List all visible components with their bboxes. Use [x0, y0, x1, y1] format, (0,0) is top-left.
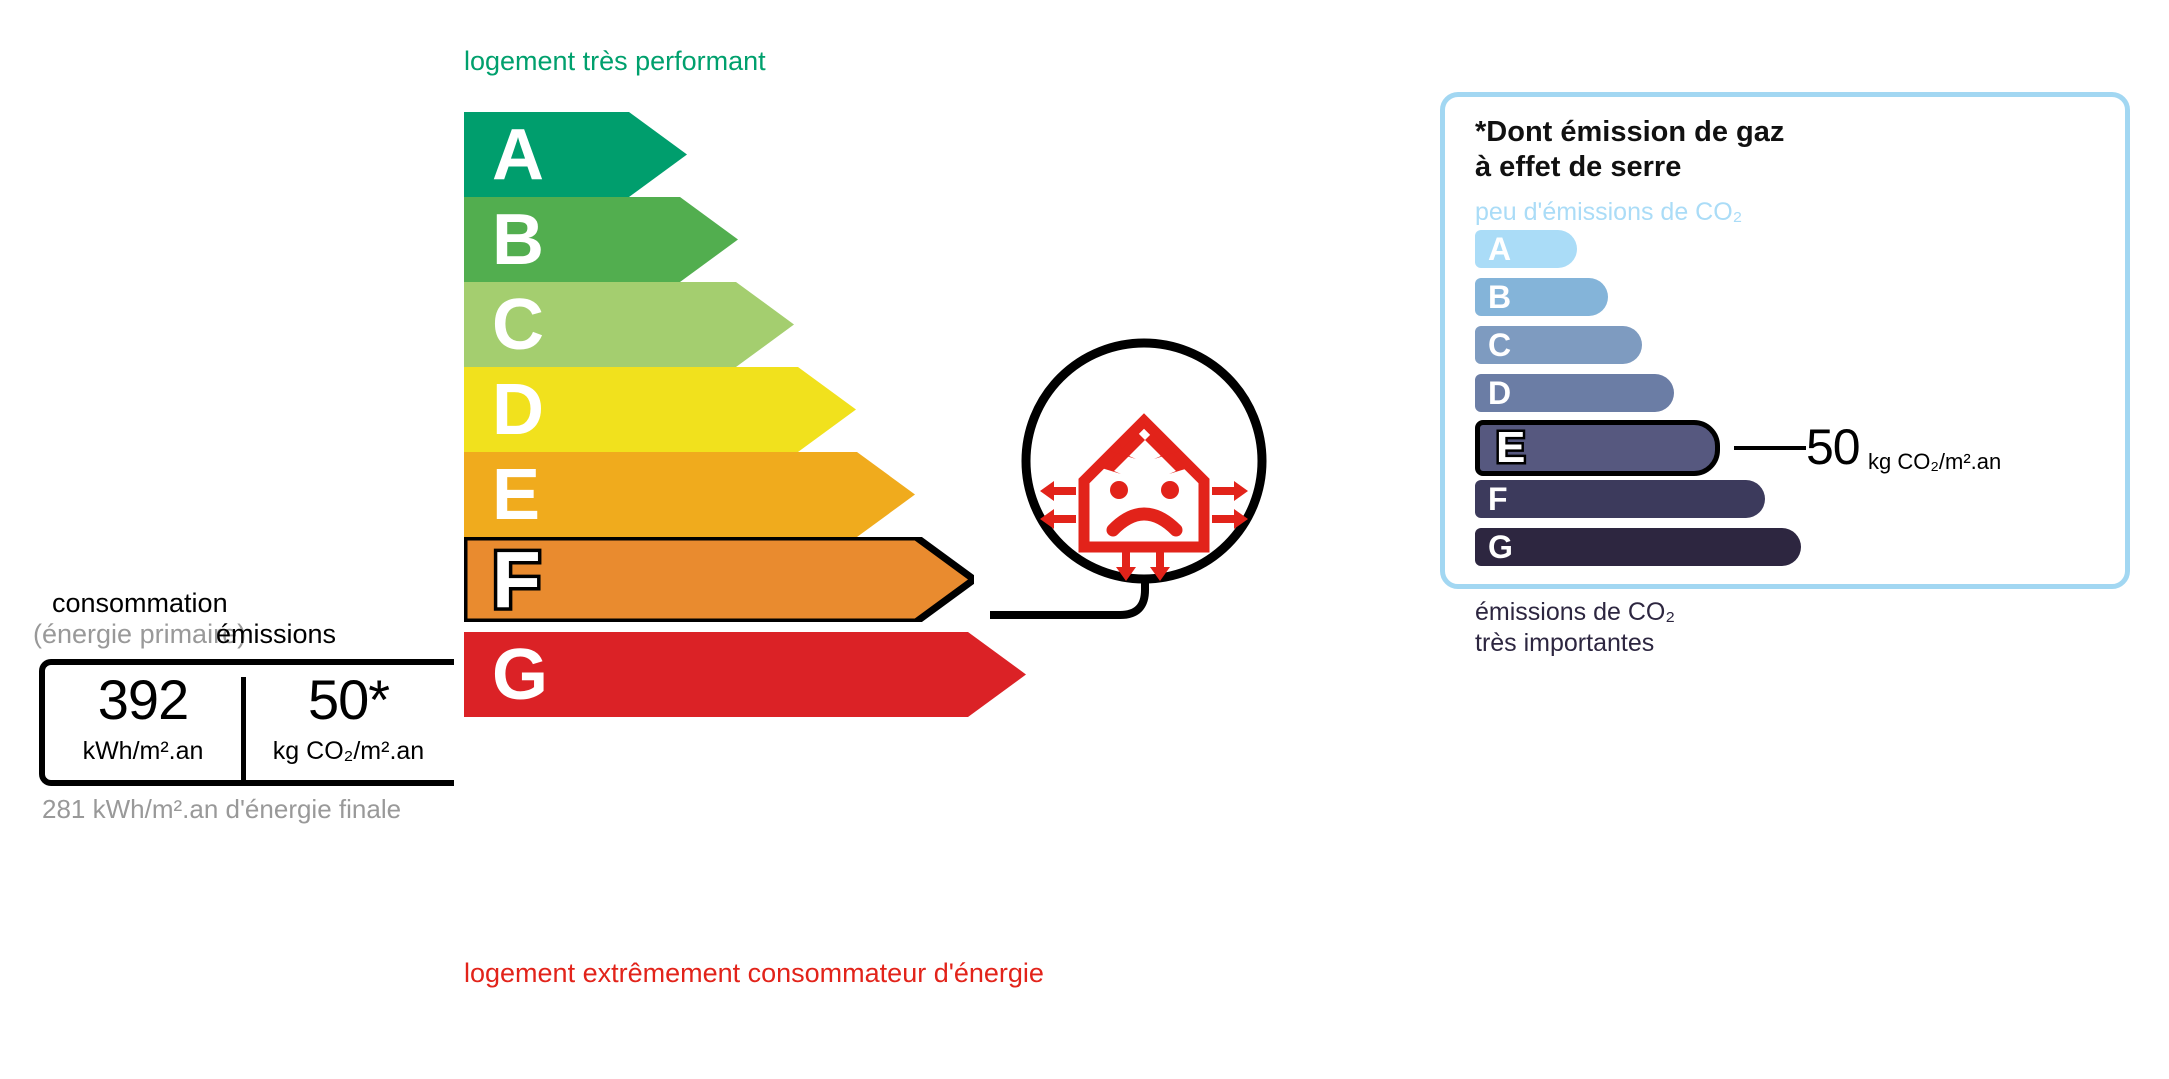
final-energy-footnote: 281 kWh/m².an d'énergie finale [42, 794, 401, 826]
co2-panel-title: *Dont émission de gaz à effet de serre [1475, 115, 1784, 186]
label-emissions: émissions [216, 619, 336, 650]
co2-bar-letter: A [1488, 233, 1511, 265]
co2-bar-letter: E [1496, 426, 1525, 470]
energy-bottom-caption: logement extrêmement consommateur d'éner… [464, 958, 1044, 989]
emissions-value: 50* [246, 671, 451, 730]
energy-band-shape [464, 632, 1026, 717]
energy-band-letter: B [492, 204, 544, 276]
co2-bar-g: G [1475, 528, 1801, 566]
co2-bar-d: D [1475, 374, 1674, 412]
energy-band-letter: A [492, 119, 544, 191]
energy-band-c: C [464, 282, 794, 367]
consumption-value: 392 [45, 671, 241, 730]
co2-bar-e: E [1475, 420, 1720, 476]
co2-bar-f: F [1475, 480, 1765, 518]
co2-bar-letter: D [1488, 377, 1511, 409]
co2-leader-line [1734, 446, 1806, 450]
co2-top-caption: peu d'émissions de CO₂ [1475, 198, 1742, 227]
co2-bar-letter: G [1488, 531, 1513, 563]
label-energie-primaire: (énergie primaire) [33, 619, 246, 650]
co2-bottom-caption: émissions de CO₂ très importantes [1475, 597, 1675, 658]
energy-band-e: E [464, 452, 915, 537]
label-consommation: consommation [52, 588, 228, 619]
energy-band-g: G [464, 632, 1026, 717]
energy-band-d: D [464, 367, 856, 452]
value-box-labels: consommation (énergie primaire) émission… [0, 590, 470, 660]
emissions-unit: kg CO₂/m².an [246, 737, 451, 766]
energy-band-b: B [464, 197, 738, 282]
co2-value-unit: kg CO₂/m².an [1868, 449, 2001, 475]
energy-band-a: A [464, 112, 687, 197]
consumption-cell: 392 kWh/m².an [45, 665, 241, 780]
co2-bar-letter: C [1488, 329, 1511, 361]
value-box: 392 kWh/m².an 50* kg CO₂/m².an [39, 659, 454, 786]
energy-band-letter: D [492, 374, 544, 446]
energy-band-letter: G [492, 639, 548, 711]
co2-bar-letter: B [1488, 281, 1511, 313]
co2-bar-b: B [1475, 278, 1608, 316]
co2-bar-c: C [1475, 326, 1642, 364]
energy-band-letter: E [492, 459, 540, 531]
heat-loss-bubble [1020, 335, 1270, 595]
energy-top-caption: logement très performant [464, 46, 766, 77]
value-box-group: consommation (énergie primaire) émission… [0, 590, 470, 820]
energy-band-letter: F [492, 540, 541, 620]
co2-bar-letter: F [1488, 483, 1508, 515]
dpe-label: logement très performant ABCDEFG logemen… [0, 0, 2169, 1079]
co2-value: 50 [1806, 422, 1860, 472]
co2-panel: *Dont émission de gaz à effet de serre p… [1440, 92, 2130, 589]
emissions-cell: 50* kg CO₂/m².an [246, 665, 451, 780]
co2-bar-a: A [1475, 230, 1577, 268]
energy-band-letter: C [492, 289, 544, 361]
energy-band-f: F [464, 537, 974, 622]
consumption-unit: kWh/m².an [45, 737, 241, 766]
